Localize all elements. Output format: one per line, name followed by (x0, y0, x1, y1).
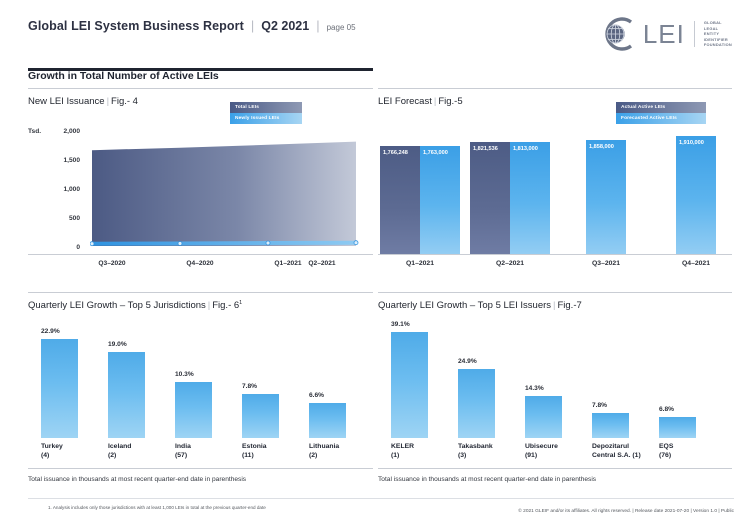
page-title: Global LEI System Business Report (28, 19, 244, 33)
fig6-category-iceland: Iceland (2) (108, 442, 131, 460)
fig4-legend: Total LEIs Newly Issued LEIs (230, 102, 302, 124)
fig4-y-axis-unit: Tsd. (28, 128, 41, 135)
fig6-category-lithuania: Lithuania (2) (309, 442, 339, 460)
fig7-bar-ubisecure (525, 396, 562, 438)
fig7-bar-keler (391, 332, 428, 438)
fig5-value-q1-forecast: 1,763,000 (423, 150, 448, 156)
logo-wordmark: LEI (643, 21, 685, 47)
fig5-bar-q2-actual (470, 142, 510, 254)
fig5-bar-q3-forecast (586, 140, 626, 254)
fig5-bar-q1-forecast (420, 146, 460, 254)
panel-fig4-rule (28, 88, 373, 89)
fig6-fig-superscript: 1 (239, 300, 242, 306)
fig7-category-takasbank: Takasbank (3) (458, 442, 493, 460)
fig4-ytick-500: 500 (48, 215, 80, 222)
fig5-xlabel-q3-2021: Q3–2021 (560, 260, 652, 267)
fig6-category-iceland-name: Iceland (108, 442, 131, 451)
fig6-category-iceland-count: (2) (108, 451, 131, 460)
fig4-xlabel-q3-2020: Q3–2020 (66, 260, 158, 267)
fig5-xlabel-q1-2021: Q1–2021 (374, 260, 466, 267)
fig6-category-india-count: (57) (175, 451, 191, 460)
fig7-title-text: Quarterly LEI Growth – Top 5 LEI Issuers (378, 300, 551, 311)
panel-fig7-title: Quarterly LEI Growth – Top 5 LEI Issuers… (378, 300, 582, 311)
report-page: Global LEI System Business Report | Q2 2… (0, 0, 750, 531)
fig5-xlabel-q2-2021: Q2–2021 (464, 260, 556, 267)
panel-fig7: Quarterly LEI Growth – Top 5 LEI Issuers… (378, 292, 732, 492)
panel-fig5-title: LEI Forecast|Fig.-5 (378, 96, 463, 107)
fig7-x-axis (378, 468, 732, 469)
fig6-category-lithuania-name: Lithuania (309, 442, 339, 451)
gleif-logo: LEI GLOBAL LEGAL ENTITY IDENTIFIER FOUND… (598, 14, 732, 54)
header-separator-1: | (251, 18, 254, 33)
fig5-value-q4-forecast: 1,910,000 (679, 140, 704, 146)
header-separator-2: | (316, 18, 319, 33)
fig7-category-eqs-count: (76) (659, 451, 673, 460)
fig7-category-keler-count: (1) (391, 451, 414, 460)
fig5-title-text: LEI Forecast (378, 96, 432, 107)
fig7-category-depozitarul: Depozitarul Central S.A. (1) (592, 442, 641, 460)
fig7-category-takasbank-name: Takasbank (458, 442, 493, 451)
fig5-value-q2-actual: 1,821,536 (473, 146, 498, 152)
report-quarter: Q2 2021 (261, 19, 309, 33)
fig7-category-ubisecure: Ubisecure (91) (525, 442, 558, 460)
globe-icon (598, 14, 638, 54)
fig4-title-text: New LEI Issuance (28, 96, 105, 107)
fig6-value-lithuania: 6.6% (309, 392, 324, 399)
fig4-x-axis (28, 254, 373, 255)
fig4-newly-line (92, 243, 356, 244)
fig7-category-keler: KELER (1) (391, 442, 414, 460)
fig5-xlabel-q4-2021: Q4–2021 (650, 260, 742, 267)
fig5-value-q2-forecast: 1,813,000 (513, 146, 538, 152)
fig6-category-turkey-name: Turkey (41, 442, 63, 451)
fig7-category-depozitarul-count: Central S.A. (1) (592, 451, 641, 460)
fig6-bar-lithuania (309, 403, 346, 438)
fig7-fig-label: Fig.-7 (557, 300, 581, 311)
footer-rule (28, 498, 734, 499)
fig4-legend-item-newly: Newly Issued LEIs (230, 113, 302, 124)
fig7-value-depozitarul: 7.8% (592, 402, 607, 409)
fig6-category-estonia-count: (11) (242, 451, 267, 460)
page-footer-copyright: © 2021 GLEIF and/or its affiliates. All … (518, 509, 734, 514)
fig4-legend-label-newly: Newly Issued LEIs (235, 116, 279, 121)
fig6-category-turkey-count: (4) (41, 451, 63, 460)
fig7-value-ubisecure: 14.3% (525, 385, 544, 392)
fig6-category-india-name: India (175, 442, 191, 451)
fig6-bar-turkey (41, 339, 78, 438)
fig6-value-estonia: 7.8% (242, 383, 257, 390)
fig7-bar-takasbank (458, 369, 495, 438)
fig4-xlabel-q4-2020: Q4–2020 (154, 260, 246, 267)
fig6-value-india: 10.3% (175, 371, 194, 378)
fig5-legend-item-actual: Actual Active LEIs (616, 102, 706, 113)
panel-fig5-rule (378, 88, 732, 89)
fig5-bar-q1-actual (380, 146, 420, 254)
fig4-plot-area (90, 130, 360, 252)
fig7-category-ubisecure-count: (91) (525, 451, 558, 460)
fig7-note: Total issuance in thousands at most rece… (378, 476, 596, 483)
fig6-category-turkey: Turkey (4) (41, 442, 63, 460)
fig5-legend-label-actual: Actual Active LEIs (621, 105, 665, 110)
fig6-fig-label: Fig.- 6 (212, 300, 239, 311)
fig4-ytick-1500: 1,500 (48, 157, 80, 164)
fig6-category-estonia-name: Estonia (242, 442, 267, 451)
fig5-fig-label: Fig.-5 (438, 96, 462, 107)
fig4-fig-label: Fig.- 4 (111, 96, 138, 107)
fig5-legend: Actual Active LEIs Forecasted Active LEI… (616, 102, 706, 124)
fig4-total-area (92, 142, 356, 246)
fig7-category-eqs-name: EQS (659, 442, 673, 451)
page-footnote: 1. Analysis includes only those jurisdic… (48, 505, 266, 510)
fig7-value-eqs: 6.8% (659, 406, 674, 413)
fig5-x-axis (378, 254, 732, 255)
panel-fig6-rule (28, 292, 373, 293)
fig4-ytick-0: 0 (48, 244, 80, 251)
fig7-bar-depozitarul (592, 413, 629, 438)
fig6-bar-india (175, 382, 212, 438)
logo-sub-line-5: FOUNDATION (704, 42, 732, 48)
fig4-ytick-2000: 2,000 (48, 128, 80, 135)
fig6-x-axis (28, 468, 373, 469)
fig7-value-takasbank: 24.9% (458, 358, 477, 365)
fig5-bar-q2-forecast (510, 142, 550, 254)
fig7-value-keler: 39.1% (391, 321, 410, 328)
panel-fig6-title: Quarterly LEI Growth – Top 5 Jurisdictio… (28, 300, 242, 311)
fig4-legend-item-total: Total LEIs (230, 102, 302, 113)
fig7-bar-eqs (659, 417, 696, 438)
fig6-category-estonia: Estonia (11) (242, 442, 267, 460)
fig6-bar-estonia (242, 394, 279, 438)
panel-fig7-rule (378, 292, 732, 293)
logo-divider (694, 21, 695, 47)
panel-fig6: Quarterly LEI Growth – Top 5 Jurisdictio… (28, 292, 373, 492)
logo-subtext: GLOBAL LEGAL ENTITY IDENTIFIER FOUNDATIO… (704, 20, 732, 48)
fig5-bar-q4-forecast (676, 136, 716, 254)
panel-fig4-title: New LEI Issuance|Fig.- 4 (28, 96, 138, 107)
fig4-xlabel-q2-2021: Q2–2021 (276, 260, 368, 267)
fig4-area-svg (90, 130, 360, 252)
fig5-legend-label-forecast: Forecasted Active LEIs (621, 116, 677, 121)
fig5-value-q1-actual: 1,766,248 (383, 150, 408, 156)
fig7-category-depozitarul-name: Depozitarul (592, 442, 641, 451)
fig7-category-ubisecure-name: Ubisecure (525, 442, 558, 451)
fig7-category-eqs: EQS (76) (659, 442, 673, 460)
fig6-value-iceland: 19.0% (108, 341, 127, 348)
fig6-category-lithuania-count: (2) (309, 451, 339, 460)
page-number: page 05 (327, 23, 356, 32)
fig4-ytick-1000: 1,000 (48, 186, 80, 193)
fig6-note: Total issuance in thousands at most rece… (28, 476, 246, 483)
fig5-legend-item-forecast: Forecasted Active LEIs (616, 113, 706, 124)
fig7-category-takasbank-count: (3) (458, 451, 493, 460)
fig7-category-keler-name: KELER (391, 442, 414, 451)
fig6-bar-iceland (108, 352, 145, 438)
fig5-value-q3-forecast: 1,858,000 (589, 144, 614, 150)
fig6-value-turkey: 22.9% (41, 328, 60, 335)
fig4-legend-label-total: Total LEIs (235, 105, 259, 110)
panel-fig4: New LEI Issuance|Fig.- 4 Total LEIs Newl… (28, 88, 373, 278)
fig6-category-india: India (57) (175, 442, 191, 460)
fig6-title-text: Quarterly LEI Growth – Top 5 Jurisdictio… (28, 300, 206, 311)
panel-fig5: LEI Forecast|Fig.-5 Actual Active LEIs F… (378, 88, 732, 278)
section-title: Growth in Total Number of Active LEIs (28, 70, 219, 82)
